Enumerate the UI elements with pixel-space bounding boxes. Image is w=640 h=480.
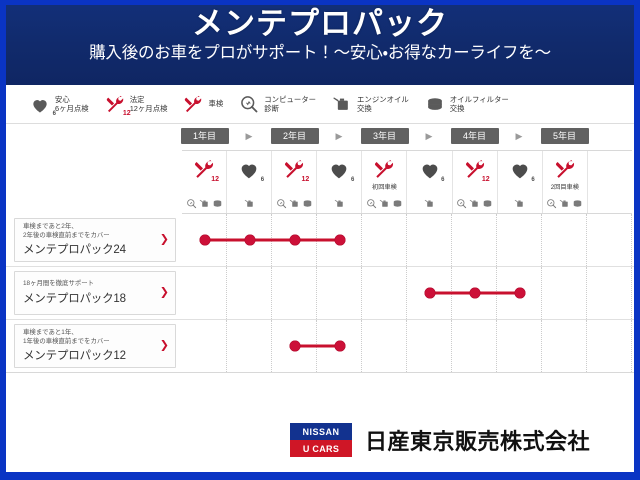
year-badge-2[interactable]: 2年目 — [271, 128, 319, 144]
oil-can-icon — [199, 198, 210, 209]
legend-item-label: コンピューター診断 — [264, 95, 316, 114]
legend-label-line2: 交換 — [357, 104, 409, 113]
package-caption-line1: 18ヶ月間を徹底サポート — [23, 280, 155, 289]
package-row: 18ヶ月間を徹底サポートメンテプロパック18❯ — [6, 267, 634, 320]
legend-label-line1: エンジンオイル — [357, 95, 409, 104]
company-name: 日産東京販売株式会社 — [365, 424, 590, 456]
year-badge-3[interactable]: 3年目 — [361, 128, 409, 144]
package-timeline-track — [182, 214, 632, 266]
oil-filter-icon — [392, 198, 403, 209]
coverage-dot — [199, 235, 210, 246]
heart-icon: 6 — [328, 157, 350, 181]
timeline-cell — [497, 320, 542, 372]
legend-item-5: エンジンオイル交換 — [330, 93, 409, 115]
service-sub-icons — [182, 198, 226, 209]
coverage-bar — [205, 239, 340, 242]
year-badge-5[interactable]: 5年目 — [541, 128, 589, 144]
legend-item-1: 6安心6ヶ月点検 — [28, 93, 89, 115]
service-sub-icons — [453, 198, 497, 209]
timeline-cell — [317, 267, 362, 319]
magnifier-icon — [366, 198, 377, 209]
heart-icon: 6 — [419, 157, 441, 181]
year-arrow-3: ▶ — [426, 132, 433, 141]
heart-icon: 6 — [28, 93, 52, 115]
timeline-cell — [182, 267, 227, 319]
oil-filter-icon — [212, 198, 223, 209]
coverage-dot — [289, 235, 300, 246]
legend-item-4: コンピューター診断 — [237, 93, 316, 115]
legend-item-label: 法定12ヶ月点検 — [130, 95, 168, 114]
legend-label-line2: 診断 — [264, 104, 316, 113]
oil-can-icon — [424, 198, 435, 209]
package-row: 車検まであと2年、2年後の車検直前までをカバーメンテプロパック24❯ — [6, 214, 634, 267]
chevron-right-icon[interactable]: ❯ — [160, 341, 169, 352]
oil-filter-icon — [302, 198, 313, 209]
heart-icon: 6 — [509, 157, 531, 181]
page-title: メンテプロパック — [6, 8, 634, 41]
timeline-cell — [227, 267, 272, 319]
wrench-icon: 12 — [464, 157, 486, 181]
coverage-dot — [289, 341, 300, 352]
legend-item-2: 12法定12ヶ月点検 — [103, 93, 168, 115]
legend-label-line2: 交換 — [450, 104, 509, 113]
service-sublabel: 2回目車検 — [551, 182, 579, 190]
chevron-right-icon[interactable]: ❯ — [160, 235, 169, 246]
oil-can-icon — [334, 198, 345, 209]
legend-item-label: エンジンオイル交換 — [357, 95, 409, 114]
service-column-9: 2回目車検 — [543, 151, 588, 213]
package-timeline-track — [182, 267, 632, 319]
legend-label-line1: 法定 — [130, 95, 168, 104]
wrench-icon: 12 — [103, 93, 127, 115]
timeline-cell — [542, 267, 587, 319]
package-name: メンテプロパック24 — [23, 241, 155, 257]
page-subtitle: 購入後のお車をプロがサポート！～安心・お得なカーライフを～ — [6, 44, 634, 62]
coverage-dot — [424, 288, 435, 299]
maintenance-package-poster: メンテプロパック 購入後のお車をプロがサポート！～安心・お得なカーライフを～ 6… — [0, 0, 640, 480]
service-sub-icons — [407, 198, 451, 209]
nissan-ucars-logo: NISSAN U CARS — [289, 422, 353, 458]
package-label-cell: 車検まであと1年、1年後の車検直前までをカバーメンテプロパック12❯ — [6, 320, 182, 372]
service-sub-icons — [317, 198, 361, 209]
header-top-accent-bar — [6, 0, 634, 5]
oil-can-icon — [330, 93, 354, 115]
poster-header: メンテプロパック 購入後のお車をプロがサポート！～安心・お得なカーライフを～ — [6, 0, 634, 85]
year-badge-4[interactable]: 4年目 — [451, 128, 499, 144]
package-label-cell: 18ヶ月間を徹底サポートメンテプロパック18❯ — [6, 267, 182, 319]
timeline-cell — [182, 320, 227, 372]
wrench-icon: 12 — [283, 157, 305, 181]
legend-label-line1: コンピューター — [264, 95, 316, 104]
coverage-dot — [469, 288, 480, 299]
package-caption-line1: 車検まであと1年、 — [23, 329, 155, 338]
service-badge-number: 6 — [351, 177, 354, 183]
oil-can-icon — [289, 198, 300, 209]
service-icon-row: 126126初回車検61262回目車検 — [182, 150, 632, 214]
oil-filter-icon — [572, 198, 583, 209]
package-rows: 車検まであと2年、2年後の車検直前までをカバーメンテプロパック24❯18ヶ月間を… — [6, 214, 634, 373]
chevron-right-icon[interactable]: ❯ — [160, 288, 169, 299]
timeline-cell — [542, 214, 587, 266]
year-badge-1[interactable]: 1年目 — [181, 128, 229, 144]
service-column-8: 6 — [498, 151, 543, 213]
legend-badge-number: 6 — [53, 111, 56, 117]
logo-nissan-text: NISSAN — [290, 423, 352, 440]
package-name: メンテプロパック12 — [23, 347, 155, 363]
package-timeline-track — [182, 320, 632, 372]
package-card[interactable]: 18ヶ月間を徹底サポートメンテプロパック18❯ — [14, 271, 176, 315]
oil-can-icon — [379, 198, 390, 209]
legend-item-label: オイルフィルター交換 — [450, 95, 509, 114]
oil-can-icon — [469, 198, 480, 209]
coverage-dot — [514, 288, 525, 299]
service-badge-number: 6 — [261, 177, 264, 183]
service-column-5: 初回車検 — [362, 151, 407, 213]
magnifier-icon — [237, 93, 261, 115]
magnifier-icon — [276, 198, 287, 209]
package-row: 車検まであと1年、1年後の車検直前までをカバーメンテプロパック12❯ — [6, 320, 634, 373]
legend-item-label: 車検 — [208, 99, 223, 108]
service-column-1: 12 — [182, 151, 227, 213]
year-arrow-1: ▶ — [246, 132, 253, 141]
service-badge-number: 12 — [301, 176, 309, 183]
magnifier-icon — [456, 198, 467, 209]
service-sub-icons — [362, 198, 406, 209]
timeline-cell — [587, 214, 632, 266]
service-sub-icons — [543, 198, 587, 209]
timeline-cell — [407, 320, 452, 372]
coverage-dot — [334, 341, 345, 352]
year-arrow-4: ▶ — [516, 132, 523, 141]
package-label-cell: 車検まであと2年、2年後の車検直前までをカバーメンテプロパック24❯ — [6, 214, 182, 266]
magnifier-icon — [546, 198, 557, 209]
heart-icon: 6 — [238, 157, 260, 181]
legend-badge-number: 12 — [123, 110, 131, 117]
timeline-cell — [407, 214, 452, 266]
legend-label-line2: 6ヶ月点検 — [55, 104, 89, 113]
service-column-2: 6 — [227, 151, 272, 213]
legend-label-line2: 12ヶ月点検 — [130, 104, 168, 113]
year-arrow-2: ▶ — [336, 132, 343, 141]
service-sub-icons — [498, 198, 542, 209]
timeline-cell — [227, 320, 272, 372]
oil-filter-icon — [482, 198, 493, 209]
wrench-icon — [373, 157, 395, 181]
coverage-bar — [295, 345, 340, 348]
oil-can-icon — [514, 198, 525, 209]
legend-item-6: オイルフィルター交換 — [423, 93, 509, 115]
timeline-cell — [542, 320, 587, 372]
package-caption-line2: 1年後の車検直前までをカバー — [23, 338, 155, 347]
package-name: メンテプロパック18 — [23, 290, 155, 306]
timeline-cell — [272, 267, 317, 319]
legend-item-3: 車検 — [181, 93, 223, 115]
service-sub-icons — [227, 198, 271, 209]
oil-filter-icon — [423, 93, 447, 115]
service-badge-number: 6 — [441, 177, 444, 183]
timeline-year-header: 1年目▶2年目▶3年目▶4年目▶5年目 — [182, 124, 632, 150]
service-badge-number: 6 — [531, 177, 534, 183]
package-card[interactable]: 車検まであと2年、2年後の車検直前までをカバーメンテプロパック24❯ — [14, 218, 176, 262]
coverage-dot — [244, 235, 255, 246]
timeline-cell — [362, 267, 407, 319]
service-column-6: 6 — [407, 151, 452, 213]
legend-bar: 6安心6ヶ月点検12法定12ヶ月点検車検コンピューター診断エンジンオイル交換オイ… — [6, 85, 634, 124]
coverage-dot — [334, 235, 345, 246]
timeline-cell — [362, 214, 407, 266]
legend-item-label: 安心6ヶ月点検 — [55, 95, 89, 114]
oil-can-icon — [244, 198, 255, 209]
timeline-cell — [362, 320, 407, 372]
timeline-cell — [497, 214, 542, 266]
service-column-3: 12 — [272, 151, 317, 213]
timeline-cell — [587, 320, 632, 372]
legend-label-line1: 車検 — [208, 99, 223, 108]
package-caption-line2: 2年後の車検直前までをカバー — [23, 232, 155, 241]
service-badge-number: 12 — [211, 176, 219, 183]
service-badge-number: 12 — [482, 176, 490, 183]
legend-label-line1: 安心 — [55, 95, 89, 104]
service-column-7: 12 — [453, 151, 498, 213]
service-sublabel: 初回車検 — [372, 182, 397, 190]
wrench-icon — [181, 93, 205, 115]
timeline-grid: 126126初回車検61262回目車検 車検まであと2年、2年後の車検直前までを… — [6, 150, 634, 373]
oil-can-icon — [559, 198, 570, 209]
package-caption-line1: 車検まであと2年、 — [23, 223, 155, 232]
logo-ucars-text: U CARS — [290, 440, 352, 457]
wrench-icon: 12 — [193, 157, 215, 181]
timeline-cell — [587, 267, 632, 319]
package-card[interactable]: 車検まであと1年、1年後の車検直前までをカバーメンテプロパック12❯ — [14, 324, 176, 368]
wrench-icon — [554, 157, 576, 181]
service-column-10 — [588, 151, 632, 213]
legend-label-line1: オイルフィルター — [450, 95, 509, 104]
poster-footer: NISSAN U CARS 日産東京販売株式会社 — [6, 408, 634, 472]
magnifier-icon — [186, 198, 197, 209]
service-column-4: 6 — [317, 151, 362, 213]
service-sub-icons — [272, 198, 316, 209]
timeline-cell — [452, 214, 497, 266]
timeline-cell — [452, 320, 497, 372]
